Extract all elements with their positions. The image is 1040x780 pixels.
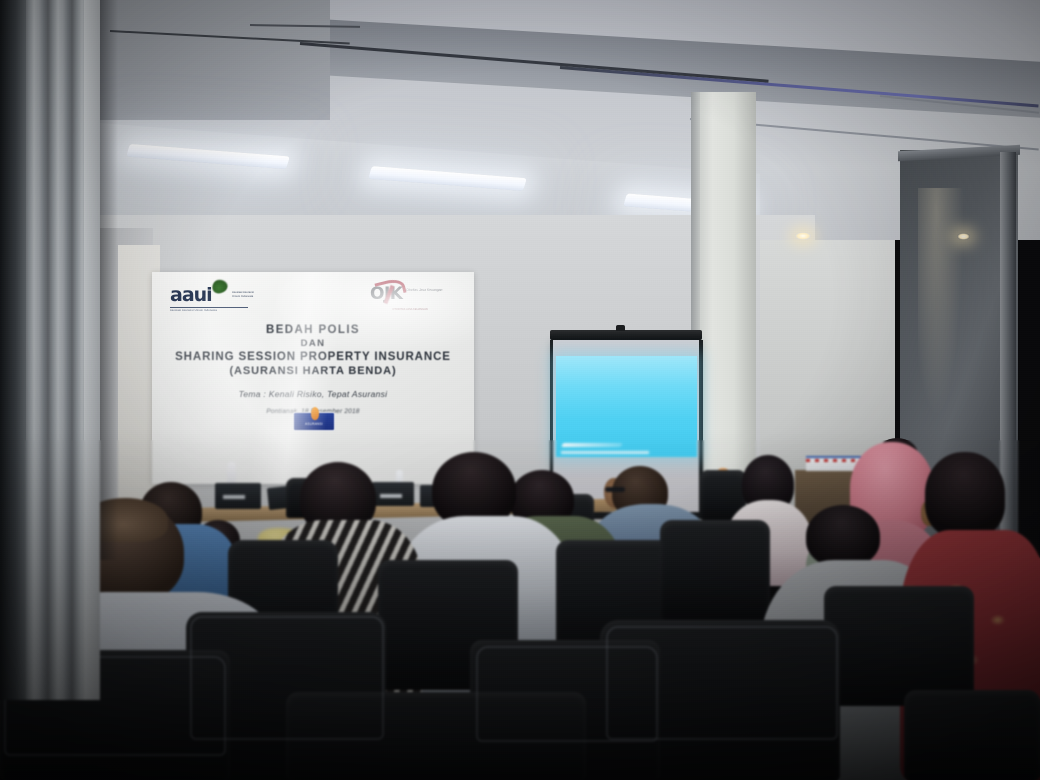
slide-watermark-icon bbox=[561, 443, 623, 447]
downlight-2-icon bbox=[957, 233, 970, 240]
downlight-1-icon bbox=[795, 232, 811, 240]
monitor-3 bbox=[372, 482, 414, 506]
aaui-side-text: Asosiasi Asuransi Umum Indonesia bbox=[232, 290, 262, 298]
projector-screen-case bbox=[550, 330, 702, 340]
monitor-1 bbox=[215, 483, 261, 509]
flame-icon bbox=[311, 407, 319, 420]
seminar-room-photo: aaui Asosiasi Asuransi Umum Indonesia As… bbox=[0, 0, 1040, 780]
banner-line-4: (ASURANSI HARTA BENDA) bbox=[152, 365, 474, 377]
aaui-rule bbox=[170, 307, 248, 308]
ojk-logo: OJK Otoritas Jasa Keuangan OTORITAS JASA… bbox=[370, 286, 450, 314]
person-grey-shirt bbox=[806, 505, 880, 567]
banner-line-3: SHARING SESSION PROPERTY INSURANCE bbox=[152, 351, 474, 363]
right-wall-panel-sheen bbox=[918, 188, 964, 418]
banner-line-1: BEDAH POLIS bbox=[152, 324, 474, 336]
projected-slide bbox=[556, 356, 697, 457]
ojk-side-text: Otoritas Jasa Keuangan bbox=[406, 288, 448, 293]
chair-rim bbox=[476, 646, 658, 742]
ojk-footer-text: OTORITAS JASA KEUANGAN bbox=[370, 308, 450, 311]
aaui-subtitle: Asosiasi Asuransi Umum Indonesia bbox=[170, 309, 248, 312]
chair bbox=[660, 520, 770, 620]
sponsor-badge-label: ASURANSI bbox=[294, 422, 334, 426]
partition-dark-edge bbox=[0, 0, 26, 700]
slide-watermark-text bbox=[561, 451, 649, 454]
chair bbox=[904, 690, 1040, 780]
banner-text-block: BEDAH POLIS DAN SHARING SESSION PROPERTY… bbox=[152, 324, 474, 415]
event-banner: aaui Asosiasi Asuransi Umum Indonesia As… bbox=[152, 272, 474, 484]
screen-glint bbox=[223, 495, 245, 499]
sponsor-badge: ASURANSI bbox=[293, 412, 335, 431]
ceiling bbox=[0, 0, 1040, 240]
partition-bright-edge bbox=[84, 0, 100, 700]
person-red-batik-phone bbox=[925, 452, 1005, 538]
aaui-logo: aaui Asosiasi Asuransi Umum Indonesia As… bbox=[170, 286, 266, 312]
banner-line-2: DAN bbox=[152, 338, 474, 349]
chair bbox=[824, 586, 974, 706]
screen-glint bbox=[380, 494, 402, 498]
banner-theme: Tema : Kenali Risiko, Tepat Asuransi bbox=[152, 389, 474, 399]
glasses-icon bbox=[605, 487, 625, 492]
